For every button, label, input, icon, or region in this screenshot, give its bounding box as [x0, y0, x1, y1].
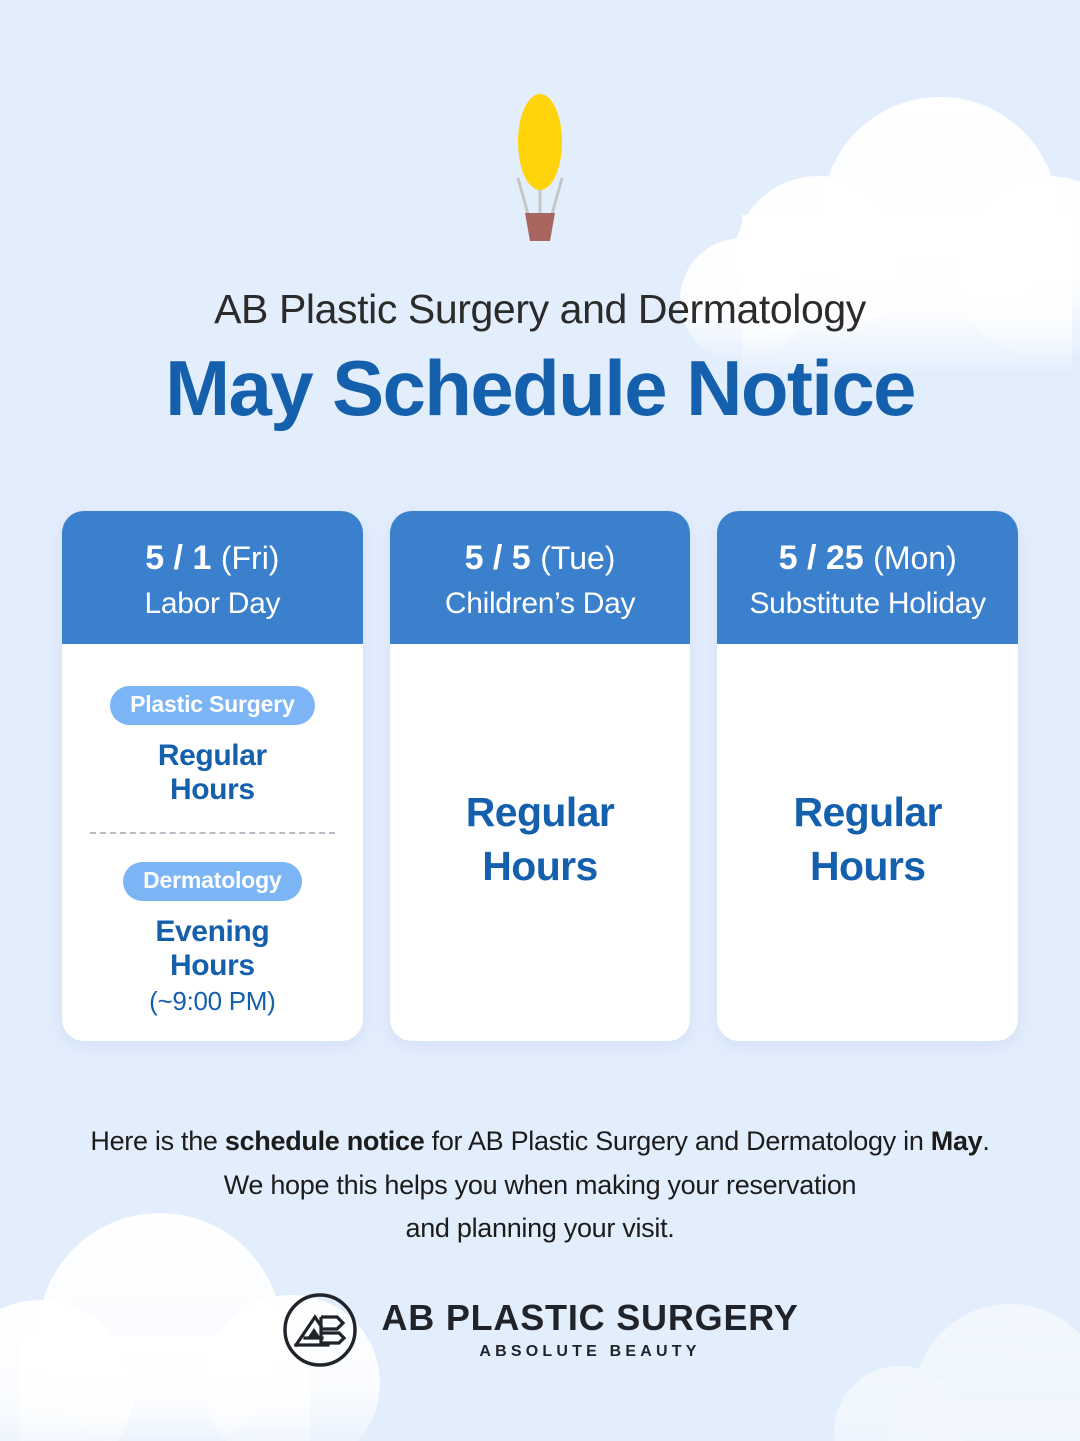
card-holiday-name: Substitute Holiday [727, 587, 1008, 622]
notice-paragraph: Here is the schedule notice for AB Plast… [0, 1120, 1080, 1251]
card-hours: RegularHours [793, 785, 941, 894]
notice-line-1: Here is the schedule notice for AB Plast… [0, 1120, 1080, 1164]
schedule-card[interactable]: 5 / 5 (Tue) Children’s Day RegularHours [390, 511, 691, 1041]
schedule-card[interactable]: 5 / 1 (Fri) Labor Day Plastic Surgery Re… [62, 511, 363, 1041]
card-header: 5 / 25 (Mon) Substitute Holiday [717, 511, 1018, 644]
section-hours: EveningHours [155, 915, 269, 982]
card-holiday-name: Children’s Day [400, 587, 681, 622]
schedule-card[interactable]: 5 / 25 (Mon) Substitute Holiday RegularH… [717, 511, 1018, 1041]
card-date: 5 / 1 [145, 539, 211, 577]
card-hours: RegularHours [466, 785, 614, 894]
notice-line1-bold2: May [931, 1126, 983, 1156]
balloon-basket [525, 213, 555, 241]
footer-logo: AB PLASTIC SURGERY ABSOLUTE BEAUTY [0, 1291, 1080, 1369]
ab-monogram-icon [281, 1291, 359, 1369]
notice-line-3: and planning your visit. [0, 1207, 1080, 1251]
notice-line-2: We hope this helps you when making your … [0, 1164, 1080, 1208]
clinic-name: AB Plastic Surgery and Dermatology [0, 287, 1080, 332]
balloon-illustration [0, 86, 1080, 251]
department-pill-dermatology: Dermatology [123, 862, 301, 901]
section-hours-note: (~9:00 PM) [149, 987, 275, 1017]
card-date: 5 / 5 [465, 539, 531, 577]
card-weekday: (Tue) [540, 540, 615, 576]
notice-line1-bold: schedule notice [225, 1126, 425, 1156]
card-date-line: 5 / 1 (Fri) [72, 538, 353, 578]
card-date-line: 5 / 25 (Mon) [727, 538, 1008, 578]
card-body: Plastic Surgery RegularHours Dermatology… [62, 644, 363, 1041]
page-title: May Schedule Notice [0, 345, 1080, 432]
brand-name: AB PLASTIC SURGERY [381, 1299, 798, 1337]
brand-tagline: ABSOLUTE BEAUTY [381, 1343, 798, 1361]
card-body: RegularHours [717, 644, 1018, 1041]
notice-line1-post: . [982, 1126, 989, 1156]
notice-line1-mid: for AB Plastic Surgery and Dermatology i… [424, 1126, 930, 1156]
card-body: RegularHours [390, 644, 691, 1041]
card-header: 5 / 1 (Fri) Labor Day [62, 511, 363, 644]
notice-line1-pre: Here is the [90, 1126, 224, 1156]
hot-air-balloon-icon [480, 86, 600, 246]
card-header: 5 / 5 (Tue) Children’s Day [390, 511, 691, 644]
card-weekday: (Fri) [221, 540, 280, 576]
balloon-envelope [508, 94, 572, 190]
section-hours: RegularHours [158, 739, 267, 806]
schedule-card-list: 5 / 1 (Fri) Labor Day Plastic Surgery Re… [62, 511, 1018, 1041]
department-pill-plastic-surgery: Plastic Surgery [110, 686, 314, 725]
footer-logo-text: AB PLASTIC SURGERY ABSOLUTE BEAUTY [381, 1299, 798, 1360]
card-holiday-name: Labor Day [72, 587, 353, 622]
card-weekday: (Mon) [873, 540, 957, 576]
schedule-notice-poster: AB Plastic Surgery and Dermatology May S… [0, 0, 1080, 1441]
poster-heading: AB Plastic Surgery and Dermatology May S… [0, 287, 1080, 432]
card-date-line: 5 / 5 (Tue) [400, 538, 681, 578]
card-divider [90, 832, 335, 834]
card-date: 5 / 25 [779, 539, 864, 577]
